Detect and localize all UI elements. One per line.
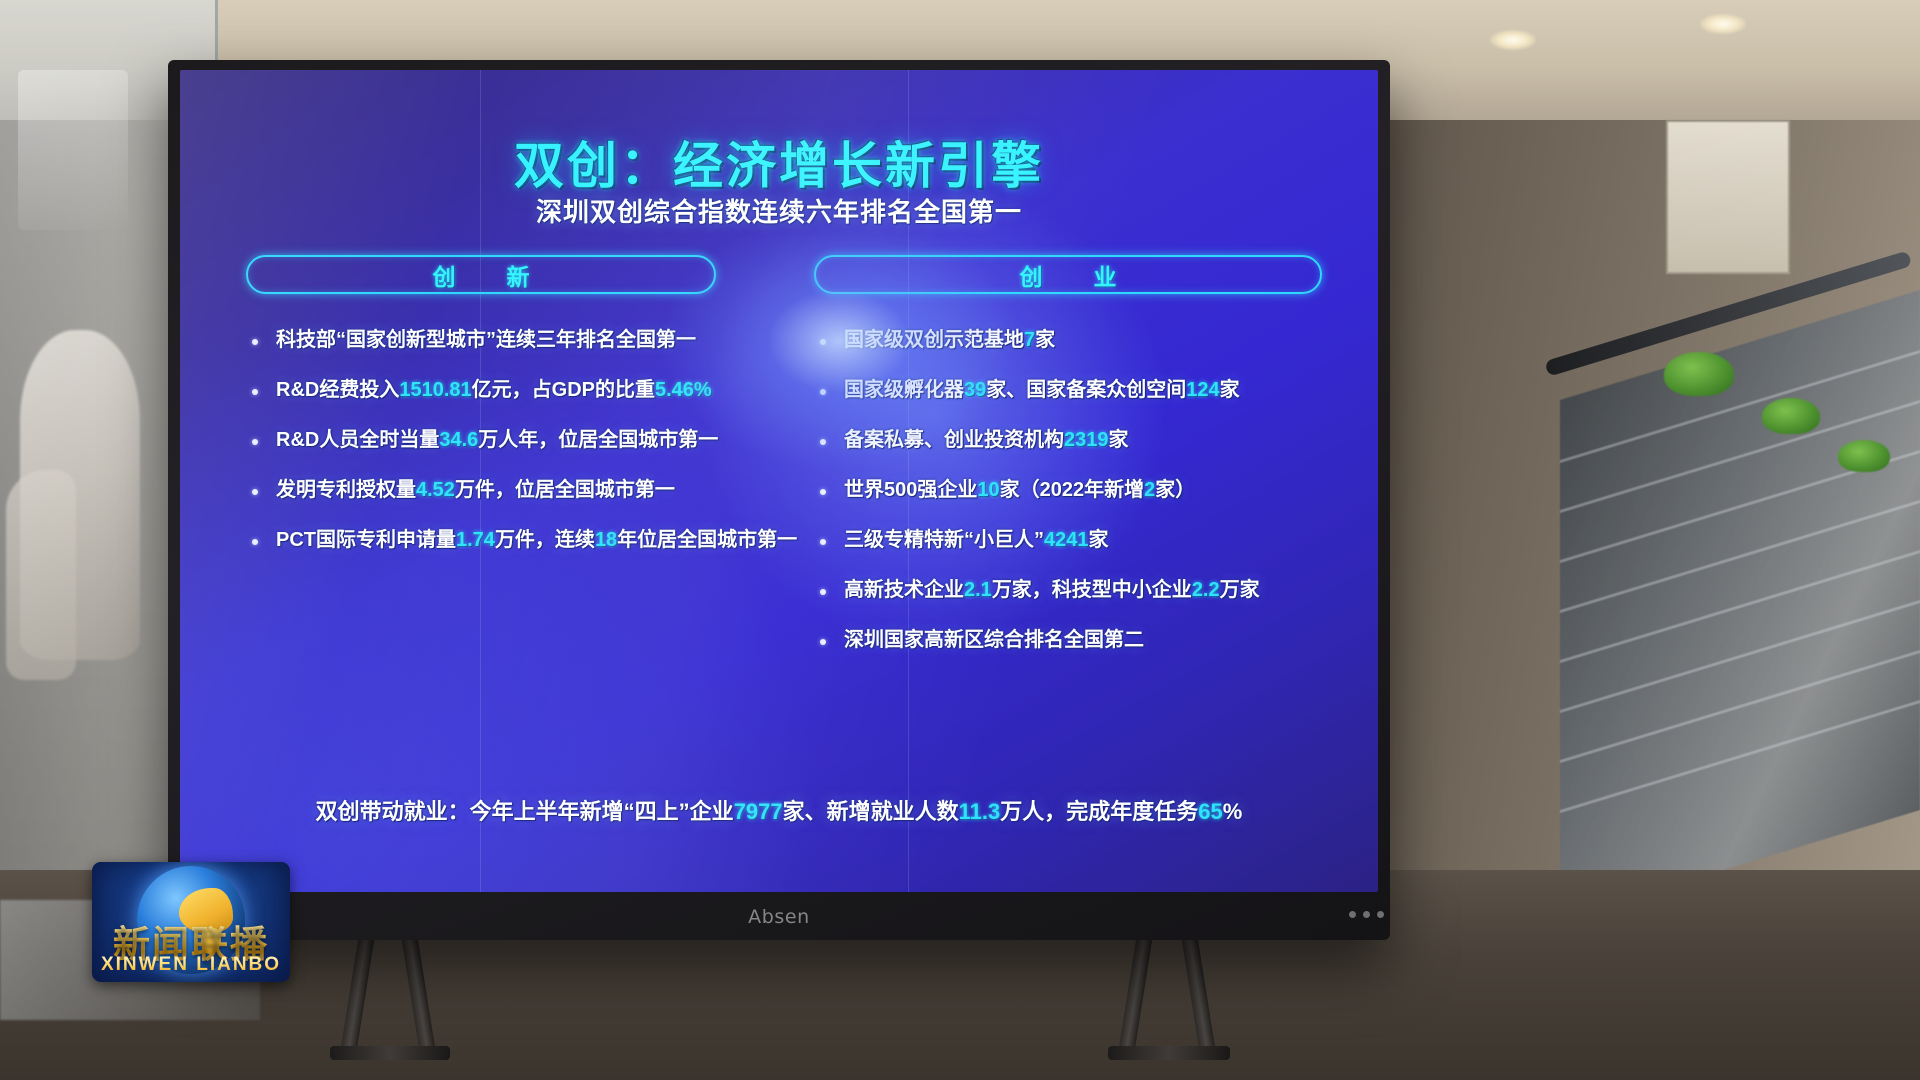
text-run: 家（2022年新增: [1000, 479, 1145, 501]
highlight-value: 10: [977, 479, 999, 501]
highlight-value: 7977: [734, 799, 783, 824]
bullet-item: R&D人员全时当量34.6万人年，位居全国城市第一: [246, 428, 716, 453]
innovation-bullet-list: 科技部“国家创新型城市”连续三年排名全国第一R&D经费投入1510.81亿元，占…: [246, 328, 716, 553]
text-run: 深圳国家高新区综合排名全国第二: [844, 629, 1144, 651]
text-run: 家、国家备案众创空间: [986, 379, 1186, 401]
highlight-value: 11.3: [959, 799, 1001, 824]
highlight-value: 4.52: [416, 479, 455, 501]
text-run: 双创带动就业：今年上半年新增“四上”企业: [316, 799, 734, 824]
highlight-value: 7: [1024, 329, 1035, 351]
slide-content: 双创：经济增长新引擎 深圳双创综合指数连续六年排名全国第一 创 新 科技部“国家…: [180, 70, 1378, 892]
potted-plant: [1664, 352, 1734, 396]
text-run: PCT国际专利申请量: [276, 529, 456, 551]
bullet-item: R&D经费投入1510.81亿元，占GDP的比重5.46%: [246, 378, 716, 403]
slide-title: 双创：经济增长新引擎: [180, 126, 1378, 198]
text-run: 家、新增就业人数: [783, 799, 959, 824]
bullet-item: 高新技术企业2.1万家，科技型中小企业2.2万家: [814, 578, 1322, 603]
section-header-innovation: 创 新: [246, 255, 716, 294]
text-run: 亿元，占GDP的比重: [472, 379, 655, 401]
bullet-item: 国家级孵化器39家、国家备案众创空间124家: [814, 378, 1322, 403]
highlight-value: 1.74: [456, 529, 495, 551]
text-run: 万家: [1220, 579, 1260, 601]
text-run: %: [1223, 799, 1243, 824]
escalator: [1560, 290, 1920, 920]
potted-plant: [1762, 398, 1820, 434]
text-run: 国家级双创示范基地: [844, 329, 1024, 351]
bullet-item: 发明专利授权量4.52万件，位居全国城市第一: [246, 478, 716, 503]
tv-brand-label: Absen: [168, 906, 1390, 928]
potted-plant: [1838, 440, 1890, 472]
section-header-entrepreneurship-label: 创 业: [1006, 258, 1131, 292]
highlight-value: 1510.81: [399, 379, 471, 401]
highlight-value: 5.46%: [655, 379, 712, 401]
highlight-value: 39: [964, 379, 986, 401]
text-run: 万人，完成年度任务: [1000, 799, 1198, 824]
text-run: 家）: [1155, 479, 1195, 501]
slide-footer-statistic: 双创带动就业：今年上半年新增“四上”企业7977家、新增就业人数11.3万人，完…: [180, 794, 1378, 826]
text-run: 万人年，位居全国城市第一: [478, 429, 718, 451]
text-run: 万件，位居全国城市第一: [455, 479, 675, 501]
highlight-value: 34.6: [439, 429, 478, 451]
broadcaster-name-en: XINWEN LIANBO: [92, 954, 290, 976]
column-innovation: 创 新 科技部“国家创新型城市”连续三年排名全国第一R&D经费投入1510.81…: [246, 255, 716, 678]
highlight-value: 2319: [1064, 429, 1109, 451]
shop-signage: [1666, 120, 1790, 274]
text-run: 家: [1220, 379, 1240, 401]
text-run: 万家，科技型中小企业: [992, 579, 1192, 601]
ceiling-light-icon: [1700, 14, 1746, 34]
bullet-item: 科技部“国家创新型城市”连续三年排名全国第一: [246, 328, 716, 353]
entrepreneurship-bullet-list: 国家级双创示范基地7家国家级孵化器39家、国家备案众创空间124家备案私募、创业…: [814, 328, 1322, 653]
tv-stand-foot: [1108, 1046, 1230, 1060]
section-header-innovation-label: 创 新: [419, 258, 544, 292]
section-header-entrepreneurship: 创 业: [814, 255, 1322, 294]
text-run: 备案私募、创业投资机构: [844, 429, 1064, 451]
text-run: 高新技术企业: [844, 579, 964, 601]
bullet-item: PCT国际专利申请量1.74万件，连续18年位居全国城市第一: [246, 528, 716, 553]
bullet-item: 国家级双创示范基地7家: [814, 328, 1322, 353]
highlight-value: 4241: [1044, 529, 1089, 551]
text-run: 家: [1089, 529, 1109, 551]
column-entrepreneurship: 创 业 国家级双创示范基地7家国家级孵化器39家、国家备案众创空间124家备案私…: [814, 255, 1322, 678]
text-run: 年位居全国城市第一: [617, 529, 797, 551]
text-run: R&D经费投入: [276, 379, 399, 401]
slide-subtitle: 深圳双创综合指数连续六年排名全国第一: [180, 192, 1378, 229]
tv-stand-foot: [330, 1046, 450, 1060]
mannequin: [6, 470, 76, 680]
text-run: R&D人员全时当量: [276, 429, 439, 451]
tv-status-led: [1349, 911, 1356, 918]
text-run: 科技部“国家创新型城市”连续三年排名全国第一: [276, 329, 696, 351]
display-screen: 双创：经济增长新引擎 深圳双创综合指数连续六年排名全国第一 创 新 科技部“国家…: [180, 70, 1378, 892]
bullet-item: 深圳国家高新区综合排名全国第二: [814, 628, 1322, 653]
bullet-item: 备案私募、创业投资机构2319家: [814, 428, 1322, 453]
highlight-value: 124: [1186, 379, 1219, 401]
text-run: 发明专利授权量: [276, 479, 416, 501]
ceiling-light-icon: [1490, 30, 1536, 50]
presentation-display: 双创：经济增长新引擎 深圳双创综合指数连续六年排名全国第一 创 新 科技部“国家…: [168, 60, 1390, 940]
text-run: 三级专精特新“小巨人”: [844, 529, 1044, 551]
highlight-value: 65: [1198, 799, 1222, 824]
highlight-value: 18: [595, 529, 617, 551]
text-run: 世界500强企业: [844, 479, 977, 501]
highlight-value: 2: [1144, 479, 1155, 501]
highlight-value: 2.2: [1192, 579, 1220, 601]
bullet-item: 世界500强企业10家（2022年新增2家）: [814, 478, 1322, 503]
bullet-item: 三级专精特新“小巨人”4241家: [814, 528, 1322, 553]
text-run: 国家级孵化器: [844, 379, 964, 401]
broadcaster-logo: 新闻联播 XINWEN LIANBO: [92, 862, 290, 982]
text-run: 家: [1109, 429, 1129, 451]
two-column-body: 创 新 科技部“国家创新型城市”连续三年排名全国第一R&D经费投入1510.81…: [246, 255, 1322, 678]
screenshot-stage: 双创：经济增长新引擎 深圳双创综合指数连续六年排名全国第一 创 新 科技部“国家…: [0, 0, 1920, 1080]
text-run: 家: [1035, 329, 1055, 351]
highlight-value: 2.1: [964, 579, 992, 601]
text-run: 万件，连续: [495, 529, 595, 551]
